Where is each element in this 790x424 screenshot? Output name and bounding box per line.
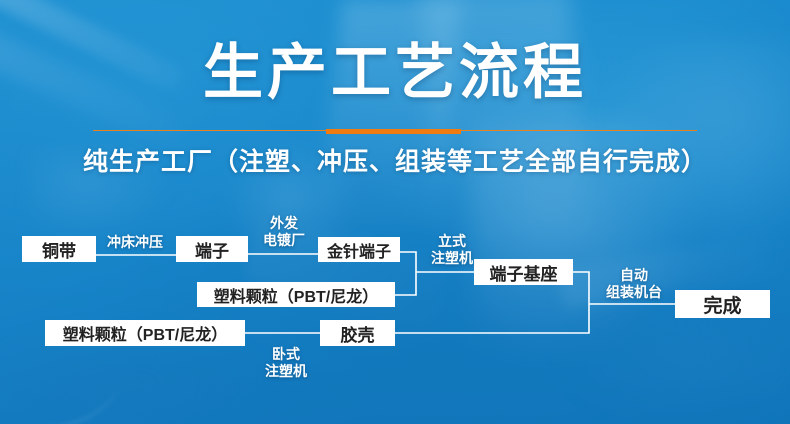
flow-node-gold-pin-terminal: 金针端子 <box>318 237 400 262</box>
flow-edge-label-auto-assembly: 自动 组装机台 <box>598 267 670 301</box>
flow-connector-lines <box>0 0 790 424</box>
flow-node-plastic-shell: 胶壳 <box>320 320 395 346</box>
production-process-banner: 生产工艺流程 纯生产工厂（注塑、冲压、组装等工艺全部自行完成） 铜带端子金针端子… <box>0 0 790 424</box>
process-flow-diagram: 铜带端子金针端子塑料颗粒（PBT/尼龙）塑料颗粒（PBT/尼龙）胶壳端子基座完成… <box>0 0 790 424</box>
flow-node-copper-strip: 铜带 <box>22 236 96 262</box>
flow-edge-label-horizontal-molding: 卧式 注塑机 <box>258 346 314 380</box>
flow-edge-label-outsourced-plating: 外发 电镀厂 <box>256 215 312 249</box>
flow-edge-label-stamping: 冲床冲压 <box>99 234 171 251</box>
flow-node-plastic-pellet-2: 塑料颗粒（PBT/尼龙） <box>45 320 245 346</box>
flow-node-plastic-pellet-1: 塑料颗粒（PBT/尼龙） <box>197 282 395 307</box>
flow-node-terminal: 端子 <box>176 236 248 262</box>
flow-node-finished: 完成 <box>675 290 770 318</box>
flow-edge-label-vertical-molding: 立式 注塑机 <box>424 233 480 267</box>
flow-node-terminal-base: 端子基座 <box>474 259 573 285</box>
